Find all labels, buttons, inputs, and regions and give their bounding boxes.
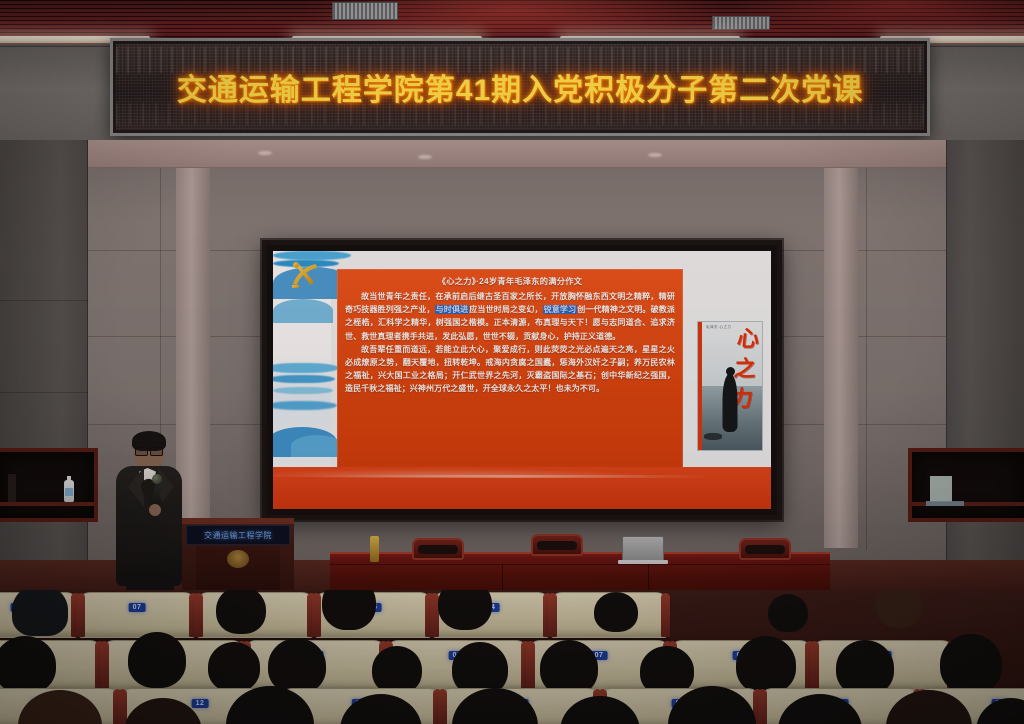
eyeglasses-icon	[135, 447, 163, 454]
audience-head	[0, 636, 56, 694]
wall-alcove-left	[0, 448, 98, 522]
seat[interactable]: 07	[78, 592, 196, 638]
banner-title-text: 交通运输工程学院第41期入党积极分子第二次党课	[113, 65, 927, 109]
pilaster-right	[824, 168, 858, 548]
watercolor-wave-right-1	[273, 251, 351, 260]
seat-arm-left	[76, 593, 85, 637]
seat-arm-left	[810, 641, 819, 689]
watercolor-wave-1	[273, 363, 339, 373]
audience-head	[594, 592, 638, 632]
audience-head	[322, 590, 376, 630]
watercolor-mountain-right-2	[273, 299, 333, 323]
dark-object-left	[8, 474, 16, 502]
slide-title: 《心之力》·24岁青年毛泽东的满分作文	[345, 275, 675, 287]
slide-paragraph-1: 故当世青年之责任，在承前启后继古圣百家之所长，开放胸怀融东西文明之精粹，精研奇巧…	[345, 290, 675, 343]
downlight-1	[258, 151, 272, 155]
audience-head	[876, 590, 922, 628]
screen-soffit	[88, 140, 946, 168]
watercolor-mountain-2	[291, 435, 343, 457]
paper-box	[930, 476, 952, 502]
head-table-chair-3	[739, 538, 791, 560]
tray	[926, 501, 964, 506]
bottle-label	[65, 488, 73, 496]
seat-number: 07	[129, 603, 146, 612]
downlight-3	[648, 153, 662, 157]
wall-seam-v2	[866, 168, 867, 550]
audience-head	[128, 632, 186, 688]
audience-head	[208, 642, 260, 692]
seat-arm-left	[438, 689, 447, 724]
audience-head	[372, 646, 422, 694]
laptop	[622, 536, 664, 562]
downlight-2	[418, 155, 432, 159]
speaker-hand	[149, 504, 161, 516]
podium-emblem	[227, 550, 249, 568]
book-title-calligraphy: 心之力	[717, 324, 760, 356]
audience-seating: 08 07 06 05 04	[0, 590, 1024, 724]
watercolor-wave-3	[273, 387, 333, 394]
slide-highlight-b: 锐意学习	[543, 305, 578, 314]
ceiling-vent-left	[332, 2, 398, 20]
audience-head	[940, 634, 1002, 694]
standing-figure-silhouette	[723, 374, 738, 432]
alcove-shelf-left	[0, 502, 94, 506]
slide-content: 《心之力》·24岁青年毛泽东的满分作文 故当世青年之责任，在承前启后继古圣百家之…	[273, 251, 771, 509]
audience-head	[768, 594, 808, 632]
left-wall-column	[0, 140, 88, 590]
podium-sign-text: 交通运输工程学院	[204, 530, 272, 541]
laptop-base	[618, 560, 668, 564]
slide-para1-b: 应当世时局之变幻，	[469, 305, 542, 314]
seat-arm-left	[194, 593, 203, 637]
book-cover-image: 毛泽东 心之力 心之力	[697, 321, 763, 451]
podium-top-surface	[182, 518, 294, 524]
wall-seam-4	[0, 300, 88, 301]
slide-highlight-a: 与时俱进	[435, 305, 470, 314]
ceiling-vent-right	[712, 16, 770, 30]
slide-footer-ribbon	[273, 467, 771, 509]
slide-paragraph-2: 故吾辈任重而道远，若能立此大心，聚爱成行，则此荧荧之光必点遍天之亮，星星之火必成…	[345, 343, 675, 396]
seat-arm-right	[661, 593, 670, 637]
seat-number: 12	[192, 699, 209, 708]
microphone-head	[152, 474, 162, 484]
book-rock	[704, 433, 722, 440]
watercolor-wave-2	[273, 375, 335, 383]
audience-head	[216, 590, 266, 634]
cpc-hammer-sickle-icon	[289, 261, 321, 291]
seat-arm-left	[312, 593, 321, 637]
watercolor-wave-4	[273, 401, 337, 410]
led-banner: 交通运输工程学院第41期入党积极分子第二次党课	[110, 38, 930, 136]
seat-arm-left	[758, 689, 767, 724]
slide-text-block: 《心之力》·24岁青年毛泽东的满分作文 故当世青年之责任，在承前启后继古圣百家之…	[337, 269, 683, 481]
audience-head	[12, 590, 68, 636]
wall-alcove-right	[908, 448, 1024, 522]
projection-screen: 《心之力》·24岁青年毛泽东的满分作文 故当世青年之责任，在承前启后继古圣百家之…	[262, 240, 782, 520]
head-table-chair-2	[531, 534, 583, 556]
seat-arm-left	[526, 641, 535, 689]
trophy	[370, 536, 379, 562]
wall-seam-5	[0, 392, 88, 393]
podium-led-sign: 交通运输工程学院	[186, 525, 290, 545]
right-wall-column	[946, 140, 1024, 590]
audience-head	[736, 636, 796, 694]
seat-arm-left	[100, 641, 109, 689]
seat-arm-left	[548, 593, 557, 637]
white-bottle	[64, 480, 74, 502]
seat-row-far: 08 07 06 05 04	[0, 592, 1024, 638]
lecture-hall-photo: 交通运输工程学院第41期入党积极分子第二次党课	[0, 0, 1024, 724]
audience-head	[438, 590, 492, 630]
head-table-chair-1	[412, 538, 464, 560]
